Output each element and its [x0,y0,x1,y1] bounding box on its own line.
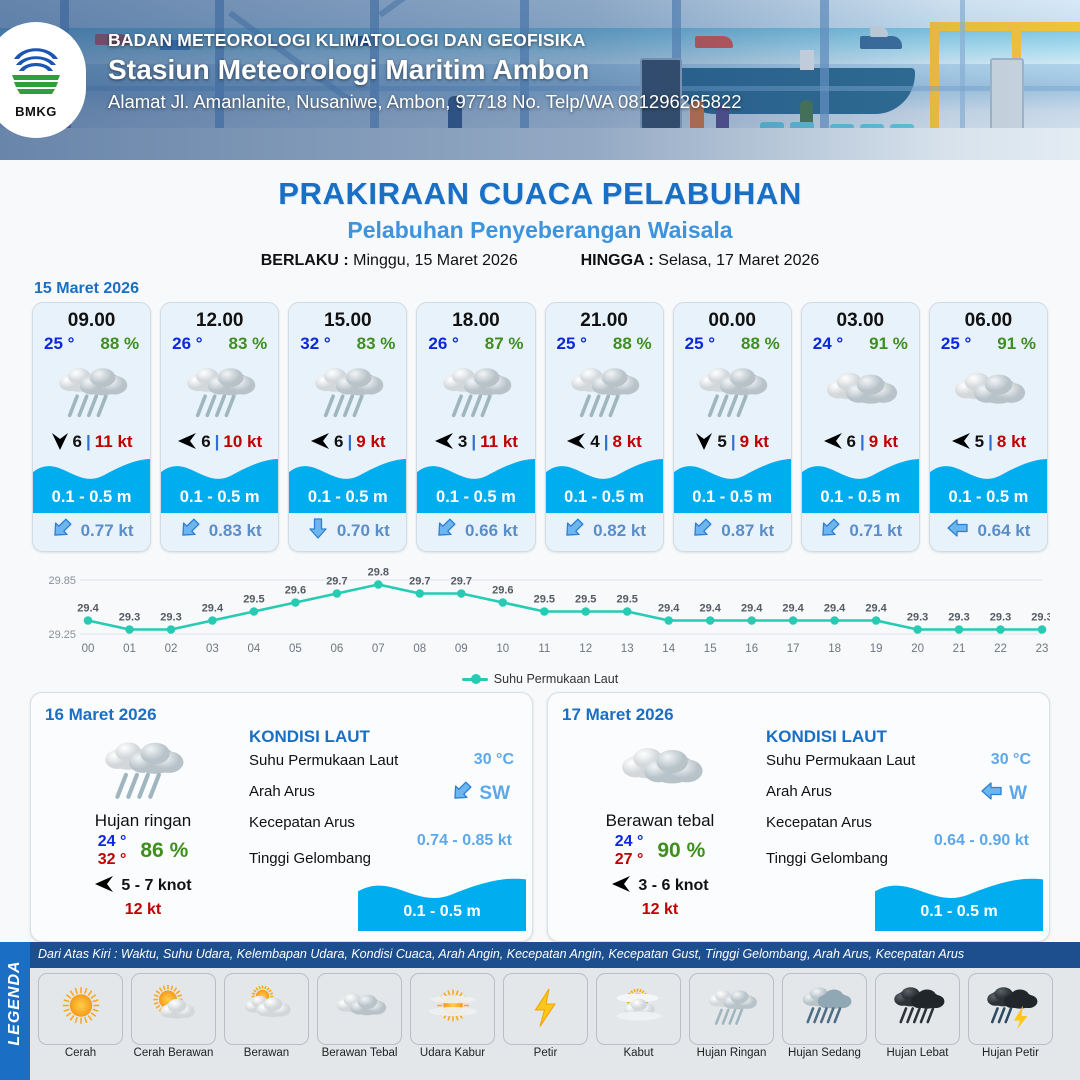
svg-text:07: 07 [372,643,385,655]
berawan-icon [237,982,297,1037]
daily-panel[interactable]: 16 Maret 2026 Hujan ringan 24 ° 32 ° 86 … [30,692,533,942]
agency-name: BADAN METEOROLOGI KLIMATOLOGI DAN GEOFIS… [108,30,742,51]
card-wind-speed: 3 [458,432,467,452]
card-temperature: 24 ° [813,334,843,354]
svg-text:29.6: 29.6 [285,585,306,597]
current-speed-value: 0.74 - 0.85 kt [249,832,518,850]
hourly-date-label: 15 Maret 2026 [34,280,1080,298]
card-wave-height: 0.1 - 0.5 m [33,488,150,507]
svg-text:29.5: 29.5 [575,594,596,606]
panel-date: 16 Maret 2026 [45,705,518,725]
legend-icon-box [968,973,1053,1045]
legend-strip: Cerah Cerah Berawan Berawan Berawan Teba… [30,968,1080,1080]
card-current-row: 0.71 kt [802,516,919,545]
card-weather-icon [930,356,1047,428]
cerah-berawan-icon [144,982,204,1037]
svg-text:29.4: 29.4 [824,603,846,615]
legend-item: Hujan Ringan [689,973,774,1059]
current-direction-arrow-icon [946,516,970,545]
legend-item: Cerah Berawan [131,973,216,1059]
legend-icon-box [131,973,216,1045]
card-gust: 10 kt [223,432,262,452]
panel-wind-row: 5 - 7 knot [45,875,241,898]
validity-row: BERLAKU : Minggu, 15 Maret 2026 HINGGA :… [0,252,1080,270]
legend-item: Hujan Lebat [875,973,960,1059]
legend-item: Hujan Sedang [782,973,867,1059]
bmkg-logo-text: BMKG [15,104,57,119]
wind-direction-arrow-icon [310,432,330,453]
svg-text:29.4: 29.4 [741,603,763,615]
card-gust: 8 kt [613,432,642,452]
card-wind-speed: 6 [73,432,82,452]
card-humidity: 83 % [229,334,268,354]
hujan-sedang-icon [795,982,855,1037]
card-wind-speed: 4 [590,432,599,452]
current-direction-arrow-icon [980,779,1004,808]
svg-text:02: 02 [165,643,178,655]
card-weather-icon [161,356,278,428]
svg-text:29.85: 29.85 [48,575,76,587]
svg-text:00: 00 [82,643,95,655]
card-current-speed: 0.71 kt [849,521,902,541]
current-direction-arrow-icon [50,516,74,545]
panel-temp-max: 32 ° [98,851,127,869]
svg-text:29.5: 29.5 [616,594,637,606]
panel-gust: 12 kt [45,901,241,919]
card-gust: 8 kt [997,432,1026,452]
card-temperature: 25 ° [941,334,971,354]
card-weather-icon [417,356,534,428]
legend-icon-box [503,973,588,1045]
panel-wave-graphic [875,871,1043,931]
panel-temps: 24 ° 27 ° [615,833,644,869]
svg-text:29.3: 29.3 [990,612,1011,624]
current-direction-arrow-icon [562,516,586,545]
current-direction-value-group: SW [450,779,510,808]
svg-text:09: 09 [455,643,468,655]
current-direction-value: W [1009,783,1027,805]
card-time: 09.00 [33,310,150,332]
card-wave-height: 0.1 - 0.5 m [289,488,406,507]
card-temperature: 25 ° [685,334,715,354]
card-humidity: 91 % [869,334,908,354]
svg-text:29.5: 29.5 [243,594,264,606]
station-address: Alamat Jl. Amanlanite, Nusaniwe, Ambon, … [108,91,742,113]
svg-text:29.3: 29.3 [907,612,928,624]
legend-item-label: Hujan Lebat [875,1047,960,1059]
panel-gust: 12 kt [562,901,758,919]
daily-forecast-row: 16 Maret 2026 Hujan ringan 24 ° 32 ° 86 … [0,686,1080,942]
panel-condition: Hujan ringan [45,811,241,831]
panel-wind-range: 3 - 6 knot [638,877,708,895]
legend-item: Udara Kabur [410,973,495,1059]
card-current-row: 0.77 kt [33,516,150,545]
svg-text:06: 06 [331,643,344,655]
current-speed-label: Kecepatan Arus [249,814,355,831]
card-humidity: 88 % [613,334,652,354]
svg-text:29.7: 29.7 [326,576,347,588]
legend-item-label: Cerah [38,1047,123,1059]
wind-direction-arrow-icon [434,432,454,453]
card-temp-hum-row: 25 ° 88 % [546,332,663,354]
hourly-card[interactable]: 09.00 25 ° 88 % 6 | 11 kt 0.1 - 0.5 m 0.… [32,302,151,552]
card-current-speed: 0.64 kt [977,521,1030,541]
panel-temp-max: 27 ° [615,851,644,869]
card-time: 21.00 [546,310,663,332]
svg-text:29.3: 29.3 [1031,612,1050,624]
legend-icon-box [410,973,495,1045]
card-weather-icon [546,356,663,428]
panel-temp-hum: 24 ° 27 ° 90 % [562,833,758,869]
bmkg-logo: BMKG [0,22,86,138]
panel-wave-value: 0.1 - 0.5 m [358,903,526,921]
current-direction-row: Arah Arus W [766,783,1035,814]
banner-text-block: BADAN METEOROLOGI KLIMATOLOGI DAN GEOFIS… [108,30,742,113]
wind-direction-arrow-icon [611,875,631,898]
legend-item-label: Hujan Sedang [782,1047,867,1059]
svg-text:18: 18 [828,643,841,655]
card-temperature: 25 ° [44,334,74,354]
svg-text:29.4: 29.4 [202,603,224,615]
legend-icon-box [875,973,960,1045]
card-wave-height: 0.1 - 0.5 m [417,488,534,507]
current-direction-value: SW [479,783,510,805]
card-wind-speed: 6 [201,432,210,452]
card-current-row: 0.82 kt [546,516,663,545]
page-title: PRAKIRAAN CUACA PELABUHAN [0,176,1080,212]
card-weather-icon [33,356,150,428]
panel-humidity: 90 % [657,839,705,863]
panel-weather-icon [45,731,241,809]
card-current-row: 0.87 kt [674,516,791,545]
hourly-card[interactable]: 03.00 24 ° 91 % 6 | 9 kt 0.1 - 0.5 m 0.7… [801,302,920,552]
svg-text:19: 19 [870,643,883,655]
svg-text:11: 11 [538,643,550,655]
page-subtitle: Pelabuhan Penyeberangan Waisala [0,217,1080,244]
card-current-speed: 0.82 kt [593,521,646,541]
hujan-ringan-icon [702,982,762,1037]
card-wind-speed: 6 [847,432,856,452]
card-time: 06.00 [930,310,1047,332]
svg-text:01: 01 [123,643,136,655]
svg-text:29.3: 29.3 [119,612,140,624]
card-wave-height: 0.1 - 0.5 m [674,488,791,507]
card-separator: | [860,432,865,452]
panel-temp-min: 24 ° [98,833,127,851]
current-speed-value: 0.64 - 0.90 kt [766,832,1035,850]
card-current-speed: 0.87 kt [721,521,774,541]
card-temperature: 26 ° [172,334,202,354]
card-humidity: 88 % [100,334,139,354]
svg-text:29.3: 29.3 [948,612,969,624]
hourly-card[interactable]: 12.00 26 ° 83 % 6 | 10 kt 0.1 - 0.5 m 0.… [160,302,279,552]
card-current-row: 0.70 kt [289,516,406,545]
card-separator: | [471,432,476,452]
svg-text:29.25: 29.25 [48,629,76,641]
svg-text:29.4: 29.4 [77,603,99,615]
svg-text:29.4: 29.4 [782,603,804,615]
panel-temp-hum: 24 ° 32 ° 86 % [45,833,241,869]
station-name: Stasiun Meteorologi Maritim Ambon [108,54,742,86]
sst-chart: 29.8529.2529.40029.30129.30229.40329.504… [30,566,1050,674]
card-temp-hum-row: 32 ° 83 % [289,332,406,354]
page-title-block: PRAKIRAAN CUACA PELABUHAN Pelabuhan Peny… [0,176,1080,270]
chart-legend-label: Suhu Permukaan Laut [494,672,618,686]
card-temp-hum-row: 26 ° 83 % [161,332,278,354]
card-weather-icon [674,356,791,428]
legend-note: Dari Atas Kiri : Waktu, Suhu Udara, Kele… [38,947,1074,961]
current-direction-arrow-icon [178,516,202,545]
panel-weather-icon [562,731,758,809]
legend-item-label: Udara Kabur [410,1047,495,1059]
card-weather-icon [802,356,919,428]
panel-wave-value: 0.1 - 0.5 m [875,903,1043,921]
legend-icon-box [38,973,123,1045]
card-time: 00.00 [674,310,791,332]
current-direction-arrow-icon [306,516,330,545]
card-current-speed: 0.83 kt [209,521,262,541]
until-value: Selasa, 17 Maret 2026 [658,252,819,269]
cerah-icon [51,982,111,1037]
card-gust: 11 kt [95,432,133,452]
svg-text:21: 21 [953,643,966,655]
current-direction-arrow-icon [434,516,458,545]
legend-item-label: Hujan Ringan [689,1047,774,1059]
card-temp-hum-row: 25 ° 88 % [674,332,791,354]
svg-text:12: 12 [579,643,592,655]
svg-text:29.7: 29.7 [451,576,472,588]
legend-item-label: Cerah Berawan [131,1047,216,1059]
wind-direction-arrow-icon [951,432,971,453]
kabut-icon [609,982,669,1037]
svg-text:20: 20 [911,643,924,655]
panel-condition: Berawan tebal [562,811,758,831]
hourly-card[interactable]: 06.00 25 ° 91 % 5 | 8 kt 0.1 - 0.5 m 0.6… [929,302,1048,552]
card-current-row: 0.66 kt [417,516,534,545]
current-direction-arrow-icon [690,516,714,545]
udara-kabur-icon [423,982,483,1037]
legend-footer: LEGENDA Dari Atas Kiri : Waktu, Suhu Uda… [0,942,1080,1080]
svg-text:05: 05 [289,643,302,655]
card-wave-height: 0.1 - 0.5 m [930,488,1047,507]
svg-text:10: 10 [496,643,509,655]
sst-label: Suhu Permukaan Laut [766,752,915,769]
legend-item: Petir [503,973,588,1059]
hourly-forecast-row: 09.00 25 ° 88 % 6 | 11 kt 0.1 - 0.5 m 0.… [0,302,1080,552]
panel-wind-range: 5 - 7 knot [121,877,191,895]
panel-temp-min: 24 ° [615,833,644,851]
wind-direction-arrow-icon [823,432,843,453]
panel-sea-conditions: KONDISI LAUT Suhu Permukaan Laut 30 °C A… [249,727,518,881]
sst-value: 30 °C [991,751,1031,769]
current-direction-label: Arah Arus [249,783,315,800]
card-gust: 9 kt [356,432,385,452]
legend-item: Cerah [38,973,123,1059]
legend-item-label: Hujan Petir [968,1047,1053,1059]
svg-text:22: 22 [994,643,1007,655]
card-time: 03.00 [802,310,919,332]
svg-text:29.4: 29.4 [699,603,721,615]
current-direction-arrow-icon [818,516,842,545]
svg-text:23: 23 [1036,643,1049,655]
legend-item-label: Berawan Tebal [317,1047,402,1059]
sea-section-title: KONDISI LAUT [249,727,518,747]
current-direction-value-group: W [980,779,1027,808]
card-separator: | [988,432,993,452]
card-current-row: 0.83 kt [161,516,278,545]
legend-side-bar: LEGENDA [0,942,30,1080]
card-current-speed: 0.66 kt [465,521,518,541]
card-temperature: 32 ° [300,334,330,354]
header-banner: BMKG BADAN METEOROLOGI KLIMATOLOGI DAN G… [0,0,1080,160]
card-humidity: 91 % [997,334,1036,354]
svg-text:29.4: 29.4 [865,603,887,615]
svg-text:29.5: 29.5 [534,594,555,606]
panel-date: 17 Maret 2026 [562,705,1035,725]
wind-direction-arrow-icon [177,432,197,453]
panel-temps: 24 ° 32 ° [98,833,127,869]
card-temperature: 26 ° [428,334,458,354]
svg-text:08: 08 [413,643,426,655]
card-separator: | [215,432,220,452]
legend-icon-box [596,973,681,1045]
card-wind-speed: 6 [334,432,343,452]
panel-wind-row: 3 - 6 knot [562,875,758,898]
card-wind-speed: 5 [975,432,984,452]
card-wind-speed: 5 [717,432,726,452]
legend-item-label: Berawan [224,1047,309,1059]
legend-icon-box [689,973,774,1045]
card-humidity: 83 % [357,334,396,354]
card-temp-hum-row: 26 ° 87 % [417,332,534,354]
hujan-lebat-icon [888,982,948,1037]
sst-value: 30 °C [474,751,514,769]
panel-humidity: 86 % [140,839,188,863]
current-speed-row: Kecepatan Arus 0.64 - 0.90 kt [766,814,1035,850]
svg-text:29.4: 29.4 [658,603,680,615]
hourly-card[interactable]: 00.00 25 ° 88 % 5 | 9 kt 0.1 - 0.5 m 0.8… [673,302,792,552]
svg-text:04: 04 [248,643,261,655]
legend-items: Cerah Cerah Berawan Berawan Berawan Teba… [30,968,1080,1059]
sea-section-title: KONDISI LAUT [766,727,1035,747]
card-wave-height: 0.1 - 0.5 m [161,488,278,507]
valid-value: Minggu, 15 Maret 2026 [353,252,518,269]
hourly-card[interactable]: 21.00 25 ° 88 % 4 | 8 kt 0.1 - 0.5 m 0.8… [545,302,664,552]
current-direction-row: Arah Arus SW [249,783,518,814]
legend-icon-box [224,973,309,1045]
card-separator: | [604,432,609,452]
daily-panel[interactable]: 17 Maret 2026 Berawan tebal 24 ° 27 ° 90… [547,692,1050,942]
card-humidity: 88 % [741,334,780,354]
legend-item: Berawan [224,973,309,1059]
panel-summary: Hujan ringan 24 ° 32 ° 86 % 5 - 7 knot 1… [45,731,241,919]
card-time: 15.00 [289,310,406,332]
card-temperature: 25 ° [557,334,587,354]
valid-label: BERLAKU : [261,252,349,269]
legend-item: Berawan Tebal [317,973,402,1059]
panel-summary: Berawan tebal 24 ° 27 ° 90 % 3 - 6 knot … [562,731,758,919]
card-time: 18.00 [417,310,534,332]
card-separator: | [731,432,736,452]
hujan-petir-icon [981,982,1041,1037]
legend-side-label: LEGENDA [6,955,24,1051]
svg-text:16: 16 [745,643,758,655]
panel-sea-conditions: KONDISI LAUT Suhu Permukaan Laut 30 °C A… [766,727,1035,881]
card-wave-height: 0.1 - 0.5 m [802,488,919,507]
svg-text:29.8: 29.8 [368,567,389,579]
legend-item-label: Kabut [596,1047,681,1059]
card-gust: 9 kt [740,432,769,452]
card-humidity: 87 % [485,334,524,354]
svg-text:29.7: 29.7 [409,576,430,588]
petir-icon [516,982,576,1037]
card-separator: | [348,432,353,452]
hourly-card[interactable]: 15.00 32 ° 83 % 6 | 9 kt 0.1 - 0.5 m 0.7… [288,302,407,552]
current-speed-row: Kecepatan Arus 0.74 - 0.85 kt [249,814,518,850]
svg-text:15: 15 [704,643,717,655]
berawan-tebal-icon [330,982,390,1037]
bmkg-emblem-icon [6,41,66,103]
sst-chart-svg: 29.8529.2529.40029.30129.30229.40329.504… [30,566,1050,666]
svg-text:14: 14 [662,643,675,655]
svg-text:13: 13 [621,643,634,655]
legend-item: Kabut [596,973,681,1059]
current-direction-label: Arah Arus [766,783,832,800]
card-weather-icon [289,356,406,428]
hourly-card[interactable]: 18.00 26 ° 87 % 3 | 11 kt 0.1 - 0.5 m 0.… [416,302,535,552]
card-current-speed: 0.77 kt [81,521,134,541]
card-temp-hum-row: 25 ° 88 % [33,332,150,354]
wind-direction-arrow-icon [94,875,114,898]
card-temp-hum-row: 24 ° 91 % [802,332,919,354]
legend-icon-box [317,973,402,1045]
card-current-row: 0.64 kt [930,516,1047,545]
legend-item: Hujan Petir [968,973,1053,1059]
card-current-speed: 0.70 kt [337,521,390,541]
sst-label: Suhu Permukaan Laut [249,752,398,769]
wave-label: Tinggi Gelombang [766,850,888,867]
chart-legend-swatch-icon [462,678,488,681]
card-gust: 9 kt [869,432,898,452]
card-temp-hum-row: 25 ° 91 % [930,332,1047,354]
panel-wave-graphic [358,871,526,931]
card-wave-height: 0.1 - 0.5 m [546,488,663,507]
card-time: 12.00 [161,310,278,332]
svg-text:29.3: 29.3 [160,612,181,624]
wind-direction-arrow-icon [566,432,586,453]
until-label: HINGGA : [581,252,654,269]
chart-legend: Suhu Permukaan Laut [0,672,1080,686]
current-direction-arrow-icon [450,779,474,808]
current-speed-label: Kecepatan Arus [766,814,872,831]
svg-text:17: 17 [787,643,800,655]
legend-icon-box [782,973,867,1045]
wave-label: Tinggi Gelombang [249,850,371,867]
legend-item-label: Petir [503,1047,588,1059]
card-separator: | [86,432,91,452]
card-gust: 11 kt [480,432,518,452]
svg-text:03: 03 [206,643,219,655]
svg-text:29.6: 29.6 [492,585,513,597]
